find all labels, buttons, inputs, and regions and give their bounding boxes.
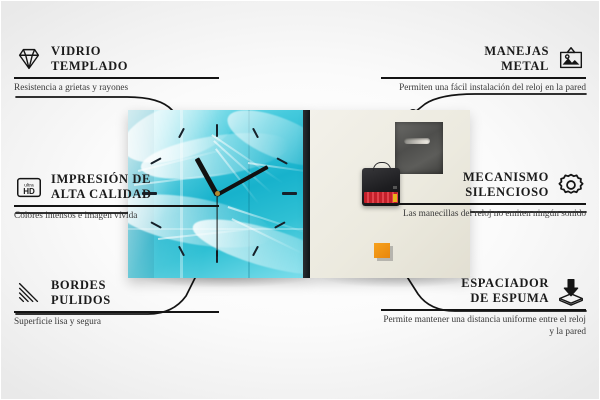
feature-edges-title-1: BORDES [51, 278, 111, 293]
feature-glass-title-2: TEMPLADO [51, 59, 128, 74]
feature-divider [381, 309, 586, 311]
feature-print-title-2: ALTA CALIDAD [51, 187, 152, 202]
hour-tick [282, 192, 297, 195]
feature-mechanism-title-1: MECANISMO [463, 170, 549, 185]
feature-hooks-title-2: METAL [484, 59, 549, 74]
metal-hanger-plate [395, 122, 443, 174]
feature-edges-title-2: PULIDOS [51, 293, 111, 308]
polished-edge-icon [14, 278, 44, 308]
feature-hooks-desc: Permiten una fácil instalación del reloj… [381, 82, 586, 94]
feature-print-desc: Colores intensos e imagen vívida [14, 210, 219, 222]
feature-divider [14, 205, 219, 207]
diamond-icon [14, 44, 44, 74]
hour-tick [216, 124, 218, 137]
svg-text:HD: HD [23, 187, 35, 196]
feature-foam: ESPACIADOR DE ESPUMA Permite mantener un… [381, 276, 586, 338]
feature-foam-desc: Permite mantener una distancia uniforme … [381, 314, 586, 339]
ultra-hd-icon: ultra HD [14, 172, 44, 202]
feature-edges-desc: Superficie lisa y segura [14, 316, 219, 328]
feature-hooks-title-1: MANEJAS [484, 44, 549, 59]
feature-mechanism-desc: Las manecillas del reloj no emiten ningú… [381, 208, 586, 220]
gear-icon [556, 170, 586, 200]
feature-hooks: MANEJAS METAL Permiten una fácil instala… [381, 44, 586, 94]
picture-frame-hanging-icon [556, 44, 586, 74]
feature-glass: VIDRIO TEMPLADO Resistencia a grietas y … [14, 44, 219, 94]
feature-glass-desc: Resistencia a grietas y rayones [14, 82, 219, 94]
feature-foam-title-2: DE ESPUMA [461, 291, 549, 306]
feature-mechanism: MECANISMO SILENCIOSO Las manecillas del … [381, 170, 586, 220]
down-arrow-pad-icon [556, 276, 586, 306]
feature-foam-title-1: ESPACIADOR [461, 276, 549, 291]
feature-edges: BORDES PULIDOS Superficie lisa y segura [14, 278, 219, 328]
infographic-canvas: VIDRIO TEMPLADO Resistencia a grietas y … [0, 0, 600, 400]
feature-print: ultra HD IMPRESIÓN DE ALTA CALIDAD Color… [14, 172, 219, 222]
hanger-slot [404, 138, 430, 144]
feature-divider [381, 203, 586, 205]
clock-side-edge [303, 110, 310, 278]
foam-spacer [374, 243, 390, 258]
feature-divider [14, 311, 219, 313]
feature-divider [14, 77, 219, 79]
feature-glass-title-1: VIDRIO [51, 44, 128, 59]
feature-print-title-1: IMPRESIÓN DE [51, 172, 152, 187]
feature-divider [381, 77, 586, 79]
feature-mechanism-title-2: SILENCIOSO [463, 185, 549, 200]
